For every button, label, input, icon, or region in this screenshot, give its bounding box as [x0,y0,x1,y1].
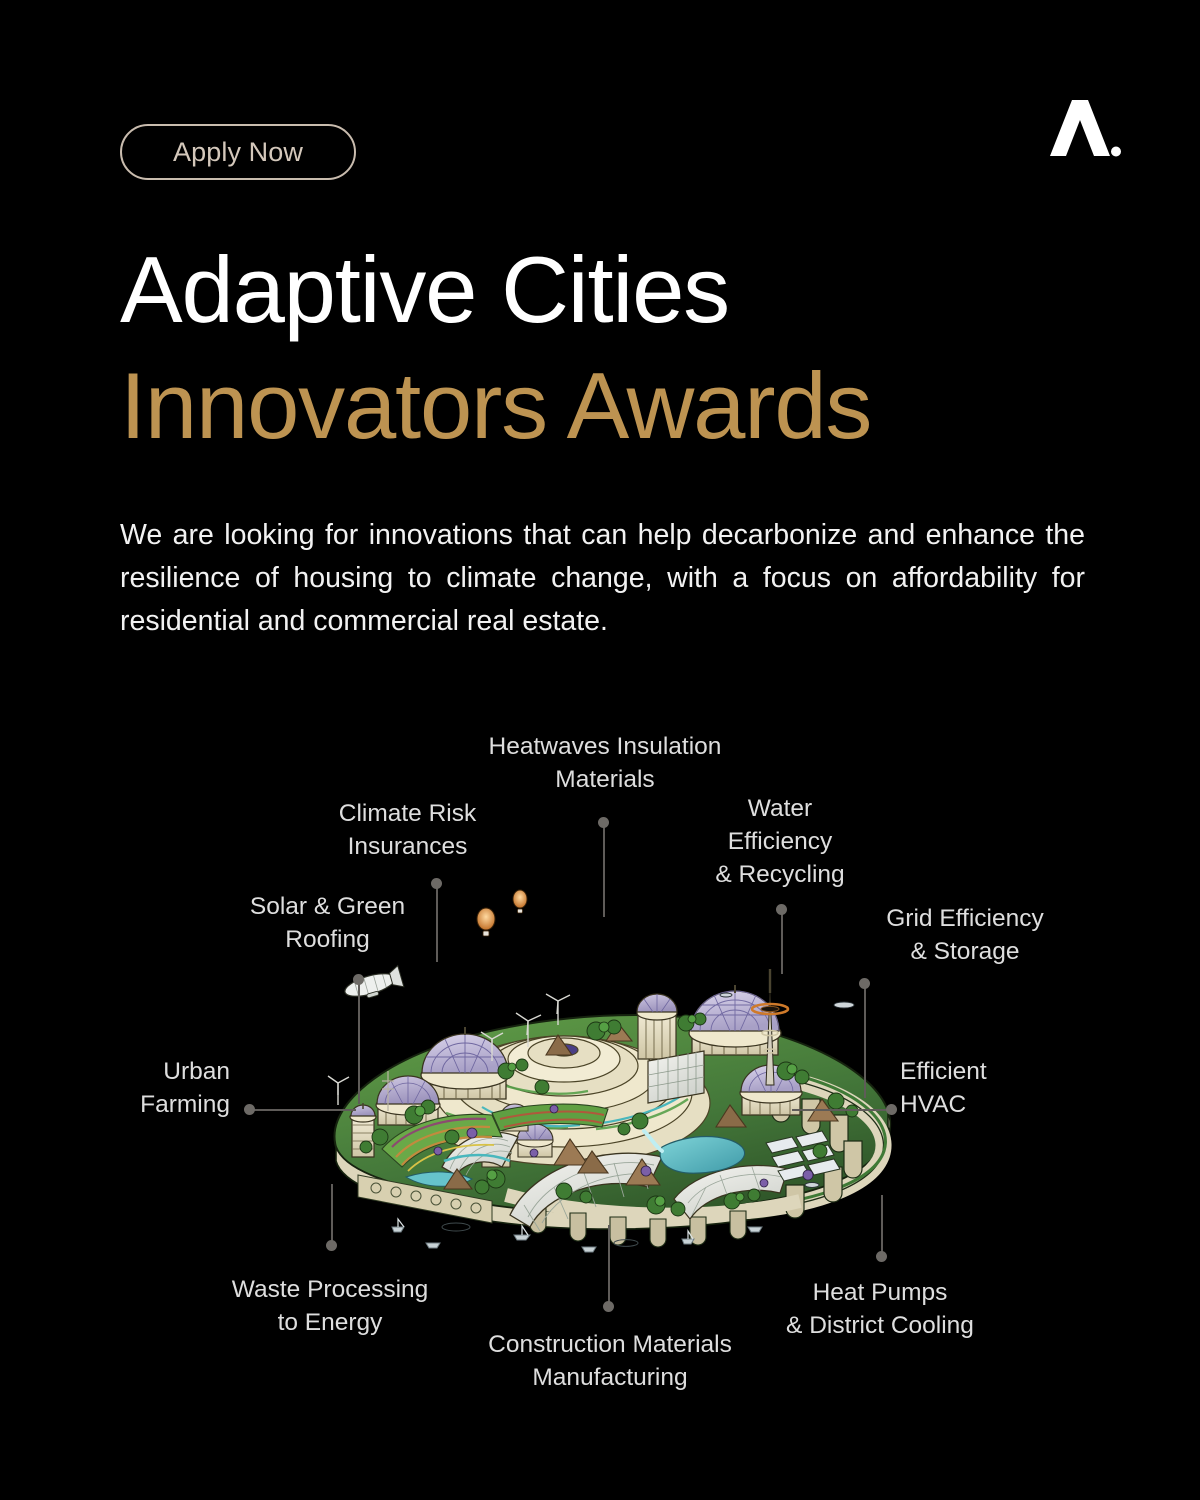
callout-dot-efficient-hvac [886,1104,897,1115]
callout-label-heatwaves-insulation-materials: Heatwaves Insulation Materials [450,730,760,796]
callout-label-solar-green-roofing: Solar & Green Roofing [200,890,455,956]
callout-connector-efficient-hvac [792,1109,892,1111]
callout-label-water-efficiency-recycling: Water Efficiency & Recycling [660,792,900,891]
callout-dot-water-efficiency-recycling [776,904,787,915]
apex-logo [1038,96,1122,160]
poster-root: Apply Now Adaptive Cities Innovators Awa… [0,0,1200,1500]
callout-dot-grid-efficiency-storage [859,978,870,989]
callout-connector-grid-efficiency-storage [864,986,866,1098]
callout-connector-water-efficiency-recycling [781,912,783,974]
apply-now-button[interactable]: Apply Now [120,124,356,180]
callout-dot-solar-green-roofing [353,974,364,985]
callout-label-climate-risk-insurances: Climate Risk Insurances [290,797,525,863]
callout-label-construction-materials-manufacturing: Construction Materials Manufacturing [460,1328,760,1394]
callout-connector-heatwaves-insulation-materials [603,825,605,917]
callout-label-heat-pumps-district-cooling: Heat Pumps & District Cooling [760,1276,1000,1342]
callout-label-urban-farming: Urban Farming [40,1055,230,1121]
title-line-accent: Innovators Awards [120,348,1120,464]
callout-connector-solar-green-roofing [358,982,360,1104]
callout-connector-construction-materials-manufacturing [608,1225,610,1307]
callout-label-grid-efficiency-storage: Grid Efficiency & Storage [840,902,1090,968]
callout-dot-waste-processing-to-energy [326,1240,337,1251]
callout-dot-climate-risk-insurances [431,878,442,889]
callout-connector-heat-pumps-district-cooling [881,1195,883,1257]
callout-dot-heat-pumps-district-cooling [876,1251,887,1262]
callout-dot-urban-farming [244,1104,255,1115]
page-title: Adaptive Cities Innovators Awards [120,232,1120,464]
callout-connector-waste-processing-to-energy [331,1184,333,1246]
callout-connector-urban-farming [252,1109,356,1111]
page-subtitle: We are looking for innovations that can … [120,514,1085,643]
callout-dot-heatwaves-insulation-materials [598,817,609,828]
callout-label-waste-processing-to-energy: Waste Processing to Energy [205,1273,455,1339]
callout-label-efficient-hvac: Efficient HVAC [900,1055,1100,1121]
callout-diagram: Heatwaves Insulation Materials Climate R… [0,690,1200,1450]
title-line-primary: Adaptive Cities [120,232,1120,348]
callout-dot-construction-materials-manufacturing [603,1301,614,1312]
